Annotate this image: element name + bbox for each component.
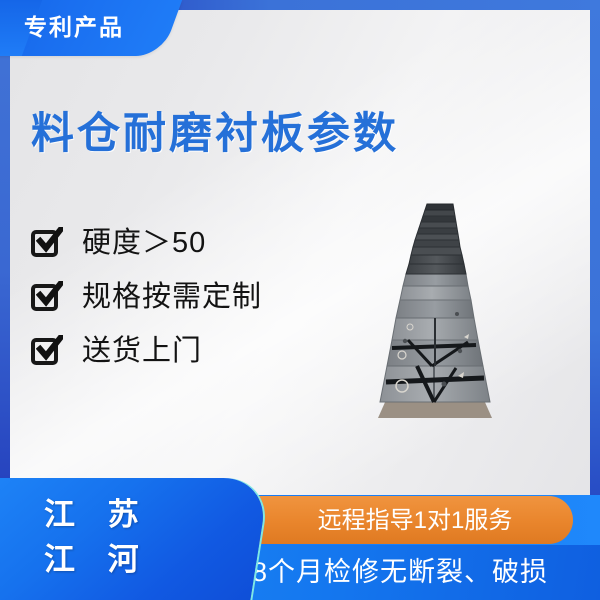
checkbox-checked-icon: [30, 280, 64, 314]
highlight-pill-label: 远程指导1对1服务: [265, 505, 565, 537]
brand-line-2: 江 河: [44, 540, 151, 580]
list-item: 硬度＞50: [30, 216, 330, 270]
patent-badge-label: 专利产品: [24, 11, 164, 43]
footer-bar: 远程指导1对1服务 8个月检修无断裂、破损 江 苏 江 河: [0, 478, 600, 600]
checkbox-checked-icon: [30, 334, 64, 368]
page-title: 料仓耐磨衬板参数: [31, 106, 399, 162]
list-item: 送货上门: [30, 324, 330, 378]
checkbox-checked-icon: [30, 226, 64, 260]
footer-subtext: 8个月检修无断裂、破损: [252, 554, 548, 590]
brand-line-1: 江 苏: [44, 495, 151, 535]
feature-label: 规格按需定制: [82, 280, 262, 314]
product-photo: [372, 196, 498, 418]
list-item: 规格按需定制: [30, 270, 330, 324]
feature-label: 送货上门: [82, 334, 202, 368]
feature-list: 硬度＞50 规格按需定制 送货上门: [30, 216, 330, 378]
poster-canvas: 专利产品 料仓耐磨衬板参数 硬度＞50 规格按需定制: [0, 0, 600, 600]
feature-label: 硬度＞50: [82, 226, 206, 260]
